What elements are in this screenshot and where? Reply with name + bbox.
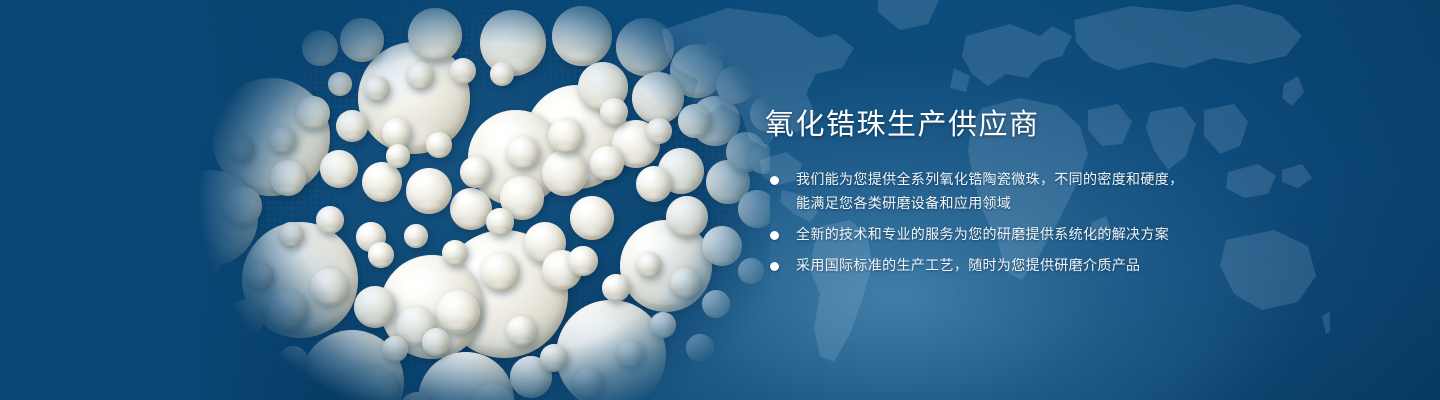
ceramic-bead <box>574 368 604 398</box>
ceramic-bead <box>706 28 734 56</box>
ceramic-bead <box>210 380 236 400</box>
ceramic-bead <box>246 262 274 290</box>
ceramic-bead <box>590 146 624 180</box>
ceramic-bead <box>636 166 672 202</box>
ceramic-bead <box>310 268 348 306</box>
ceramic-bead <box>296 96 330 130</box>
ceramic-bead <box>542 150 588 196</box>
ceramic-bead <box>408 8 462 62</box>
ceramic-bead <box>268 290 308 330</box>
ceramic-bead <box>600 98 628 126</box>
ceramic-bead <box>406 62 434 90</box>
ceramic-bead <box>268 126 296 154</box>
product-photo-zirconia-beads <box>150 0 770 400</box>
ceramic-bead <box>320 150 358 188</box>
ceramic-bead <box>176 240 220 284</box>
ceramic-bead <box>670 268 700 298</box>
ceramic-bead <box>686 334 714 362</box>
ceramic-bead <box>450 58 476 84</box>
ceramic-bead <box>278 346 308 376</box>
feature-bullet: 我们能为您提供全系列氧化锆陶瓷微珠，不同的密度和硬度，能满足您各类研磨设备和应用… <box>765 168 1215 216</box>
ceramic-bead <box>382 336 408 362</box>
ceramic-bead <box>222 186 262 226</box>
ceramic-bead <box>486 208 514 236</box>
ceramic-bead <box>506 316 536 346</box>
ceramic-bead <box>406 168 452 214</box>
ceramic-bead <box>570 196 614 240</box>
ceramic-bead <box>636 252 662 278</box>
ceramic-bead <box>354 286 396 328</box>
ceramic-bead <box>480 10 546 76</box>
ceramic-bead <box>362 162 402 202</box>
bullet-text-line: 全新的技术和专业的服务为您的研磨提供系统化的解决方案 <box>796 223 1215 247</box>
ceramic-bead <box>226 300 264 338</box>
ceramic-bead <box>270 160 306 196</box>
ceramic-bead <box>646 118 672 144</box>
bullet-text-line: 能满足您各类研磨设备和应用领域 <box>796 192 1215 216</box>
ceramic-bead <box>556 300 666 400</box>
ceramic-bead <box>506 136 540 170</box>
ceramic-bead <box>650 312 676 338</box>
banner-copy: 氧化锆珠生产供应商 我们能为您提供全系列氧化锆陶瓷微珠，不同的密度和硬度，能满足… <box>765 104 1215 278</box>
ceramic-bead <box>436 290 480 334</box>
feature-bullet: 采用国际标准的生产工艺，随时为您提供研磨介质产品 <box>765 254 1215 278</box>
bullet-dot-icon <box>770 176 779 185</box>
ceramic-bead <box>336 110 368 142</box>
ceramic-bead <box>490 62 514 86</box>
ceramic-bead <box>678 104 712 138</box>
ceramic-bead <box>616 18 674 76</box>
ceramic-bead <box>602 274 630 302</box>
ceramic-bead <box>568 246 598 276</box>
ceramic-bead <box>460 156 492 188</box>
ceramic-bead <box>442 240 468 266</box>
ceramic-bead <box>194 326 234 366</box>
ceramic-bead <box>340 18 384 62</box>
ceramic-bead <box>316 206 344 234</box>
ceramic-bead <box>422 328 450 356</box>
ceramic-bead <box>552 6 612 66</box>
ceramic-bead <box>426 132 452 158</box>
ceramic-bead <box>702 290 730 318</box>
ceramic-bead <box>548 118 584 154</box>
ceramic-bead <box>632 72 684 124</box>
ceramic-bead <box>278 222 304 248</box>
feature-bullet-list: 我们能为您提供全系列氧化锆陶瓷微珠，不同的密度和硬度，能满足您各类研磨设备和应用… <box>765 168 1215 278</box>
ceramic-bead <box>368 242 394 268</box>
ceramic-bead <box>328 72 352 96</box>
ceramic-bead <box>302 30 338 66</box>
ceramic-bead <box>666 196 708 238</box>
ceramic-bead <box>364 76 390 102</box>
ceramic-bead <box>540 344 568 372</box>
hero-banner: 氧化锆珠生产供应商 我们能为您提供全系列氧化锆陶瓷微珠，不同的密度和硬度，能满足… <box>0 0 1440 400</box>
ceramic-bead <box>386 144 410 168</box>
ceramic-bead <box>616 340 644 368</box>
bullet-dot-icon <box>770 262 779 271</box>
ceramic-bead <box>738 258 764 284</box>
bullet-dot-icon <box>770 231 779 240</box>
ceramic-bead <box>404 224 428 248</box>
ceramic-bead <box>244 364 272 392</box>
page-title: 氧化锆珠生产供应商 <box>765 104 1215 144</box>
bullet-text-line: 我们能为您提供全系列氧化锆陶瓷微珠，不同的密度和硬度， <box>796 168 1215 192</box>
ceramic-bead <box>736 56 766 86</box>
feature-bullet: 全新的技术和专业的服务为您的研磨提供系统化的解决方案 <box>765 223 1215 247</box>
ceramic-bead <box>480 252 520 292</box>
ceramic-bead <box>162 312 190 340</box>
ceramic-bead <box>228 136 254 162</box>
bullet-text-line: 采用国际标准的生产工艺，随时为您提供研磨介质产品 <box>796 254 1215 278</box>
ceramic-bead <box>702 226 742 266</box>
ceramic-bead <box>200 280 226 306</box>
ceramic-bead <box>746 22 770 46</box>
